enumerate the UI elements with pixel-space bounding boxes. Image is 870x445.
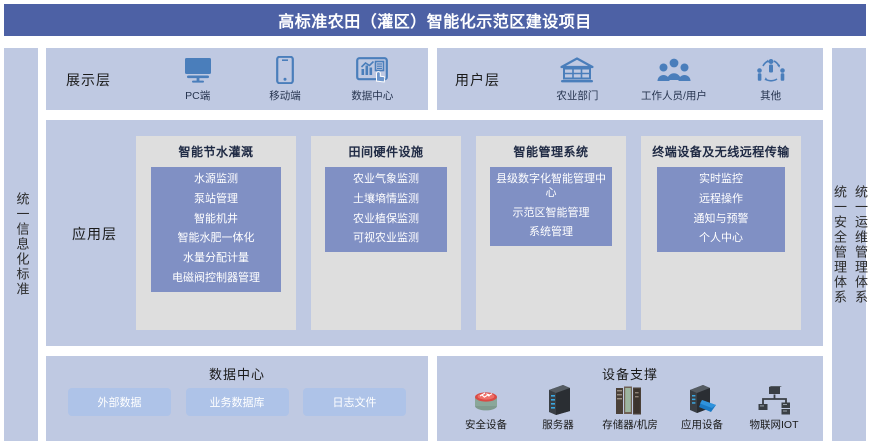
- user-item-staff-users-label: 工作人员/用户: [641, 88, 707, 103]
- data-center-title: 数据中心: [46, 364, 428, 383]
- device-support-title: 设备支撑: [437, 364, 823, 383]
- app-card-item[interactable]: 智能水肥一体化: [178, 232, 255, 246]
- app-card-item[interactable]: 可视农业监测: [353, 232, 419, 246]
- mobile-phone-icon: [276, 54, 294, 86]
- device-support-panel: 设备支撑 安全设备: [437, 356, 823, 441]
- data-center-pill-log-files[interactable]: 日志文件: [303, 388, 406, 416]
- user-item-staff-users[interactable]: 工作人员/用户: [631, 54, 717, 103]
- app-card-title: 终端设备及无线远程传输: [648, 145, 794, 160]
- left-rail-label: 统一信息化标准: [14, 192, 29, 297]
- app-card-water-saving-irrigation[interactable]: 智能节水灌溉 水源监测 泵站管理 智能机井 智能水肥一体化 水量分配计量 电磁阀…: [136, 136, 296, 330]
- display-item-pc-label: PC端: [185, 88, 210, 103]
- application-device-icon: [685, 382, 719, 415]
- desktop-monitor-icon: [183, 54, 213, 86]
- right-rail-label-operations: 统一运维管理体系: [852, 185, 867, 305]
- user-item-agriculture-dept-label: 农业部门: [556, 88, 598, 103]
- user-item-agriculture-dept[interactable]: 农业部门: [534, 54, 620, 103]
- app-card-item[interactable]: 个人中心: [699, 232, 743, 246]
- device-item-application-label: 应用设备: [681, 417, 723, 432]
- app-card-intelligent-management-system[interactable]: 智能管理系统 县级数字化智能管理中心 示范区智能管理 系统管理: [476, 136, 626, 330]
- storage-rack-icon: [613, 382, 647, 415]
- app-card-item[interactable]: 水量分配计量: [183, 252, 249, 266]
- device-item-server[interactable]: 服务器: [523, 382, 593, 432]
- data-center-pill-business-db[interactable]: 业务数据库: [186, 388, 289, 416]
- display-item-data-center-label: 数据中心: [351, 88, 393, 103]
- app-card-item[interactable]: 系统管理: [529, 226, 573, 240]
- device-item-server-label: 服务器: [542, 417, 574, 432]
- app-card-item[interactable]: 电磁阀控制器管理: [172, 272, 260, 286]
- device-item-security[interactable]: 安全设备: [451, 382, 521, 432]
- application-layer-panel: 应用层 智能节水灌溉 水源监测 泵站管理 智能机井 智能水肥一体化 水量分配计量…: [46, 120, 823, 346]
- device-item-application[interactable]: 应用设备: [667, 382, 737, 432]
- diagram-root: 高标准农田（灌区）智能化示范区建设项目 统一信息化标准 统一安全管理体系 统一运…: [0, 0, 870, 445]
- app-card-title: 智能管理系统: [509, 145, 592, 160]
- display-item-data-center[interactable]: 数据中心: [329, 54, 415, 103]
- right-rail-management-systems: 统一安全管理体系 统一运维管理体系: [832, 48, 866, 441]
- user-layer-label: 用户层: [455, 70, 500, 90]
- display-item-pc[interactable]: PC端: [155, 54, 241, 103]
- user-item-other-label: 其他: [760, 88, 781, 103]
- data-center-pill-row: 外部数据 业务数据库 日志文件: [68, 388, 406, 416]
- people-group-icon: [657, 54, 691, 86]
- app-card-title: 智能节水灌溉: [174, 145, 257, 160]
- app-card-item-list: 农业气象监测 土壤墒情监测 农业植保监测 可视农业监测: [325, 167, 447, 252]
- government-building-icon: [560, 54, 594, 86]
- security-router-icon: [469, 382, 503, 415]
- app-card-item-list: 县级数字化智能管理中心 示范区智能管理 系统管理: [490, 167, 612, 246]
- user-item-other[interactable]: 其他: [728, 54, 814, 103]
- right-rail-label-security: 统一安全管理体系: [831, 185, 846, 305]
- data-center-pill-external[interactable]: 外部数据: [68, 388, 171, 416]
- device-item-security-label: 安全设备: [465, 417, 507, 432]
- app-card-item[interactable]: 示范区智能管理: [513, 207, 590, 221]
- display-layer-icon-row: PC端 移动端: [154, 54, 416, 103]
- display-item-mobile-label: 移动端: [269, 88, 301, 103]
- application-layer-label: 应用层: [72, 224, 117, 244]
- app-card-item[interactable]: 县级数字化智能管理中心: [492, 173, 610, 201]
- device-item-storage[interactable]: 存储器/机房: [595, 382, 665, 432]
- device-item-iot-label: 物联网IOT: [750, 417, 799, 432]
- app-card-item[interactable]: 通知与预警: [694, 213, 749, 227]
- left-rail-unified-standard: 统一信息化标准: [4, 48, 38, 441]
- iot-network-icon: [757, 382, 791, 415]
- user-layer-icon-row: 农业部门 工作人员/用户: [529, 54, 819, 103]
- app-card-item-list: 实时监控 远程操作 通知与预警 个人中心: [657, 167, 785, 252]
- app-card-item[interactable]: 土壤墒情监测: [353, 193, 419, 207]
- app-card-item[interactable]: 远程操作: [699, 193, 743, 207]
- app-card-terminal-wireless-transmission[interactable]: 终端设备及无线远程传输 实时监控 远程操作 通知与预警 个人中心: [641, 136, 801, 330]
- device-item-iot[interactable]: 物联网IOT: [739, 382, 809, 432]
- app-card-title: 田间硬件设施: [344, 145, 427, 160]
- collaboration-cycle-icon: [755, 54, 787, 86]
- server-tower-icon: [543, 382, 573, 415]
- tablet-chart-touch-icon: [356, 54, 388, 86]
- page-title: 高标准农田（灌区）智能化示范区建设项目: [4, 4, 866, 36]
- user-layer-panel: 用户层 农业部门: [437, 48, 823, 110]
- device-item-storage-label: 存储器/机房: [602, 417, 657, 432]
- app-card-item-list: 水源监测 泵站管理 智能机井 智能水肥一体化 水量分配计量 电磁阀控制器管理: [151, 167, 281, 292]
- data-center-panel: 数据中心 外部数据 业务数据库 日志文件: [46, 356, 428, 441]
- app-card-item[interactable]: 实时监控: [699, 173, 743, 187]
- app-card-item[interactable]: 泵站管理: [194, 193, 238, 207]
- app-card-item[interactable]: 智能机井: [194, 213, 238, 227]
- app-card-item[interactable]: 农业植保监测: [353, 213, 419, 227]
- display-layer-panel: 展示层 PC端: [46, 48, 428, 110]
- device-support-icon-row: 安全设备 服务器: [451, 382, 809, 432]
- app-card-item[interactable]: 水源监测: [194, 173, 238, 187]
- display-item-mobile[interactable]: 移动端: [242, 54, 328, 103]
- display-layer-label: 展示层: [66, 70, 111, 90]
- app-card-field-hardware[interactable]: 田间硬件设施 农业气象监测 土壤墒情监测 农业植保监测 可视农业监测: [311, 136, 461, 330]
- app-card-item[interactable]: 农业气象监测: [353, 173, 419, 187]
